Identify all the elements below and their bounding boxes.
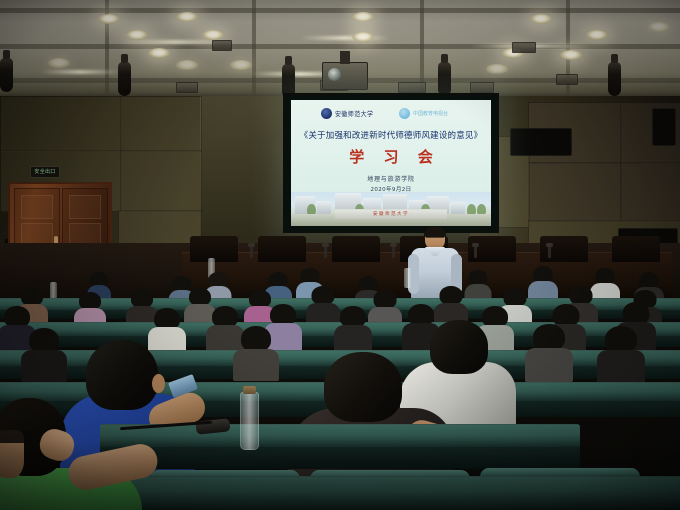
ceiling-projector (322, 62, 368, 90)
ceiling-downlight (648, 22, 670, 32)
ceiling-downlight (352, 32, 374, 42)
wall-speaker (652, 108, 676, 146)
slide-logo-row: 安徽师范大学 中国教育电视台 (291, 108, 491, 123)
table-microphone (250, 246, 253, 258)
ceiling-downlight (486, 64, 508, 74)
slide-headline: 学 习 会 (291, 146, 491, 167)
ceiling-downlight (202, 30, 224, 40)
university-logo: 安徽师范大学 (321, 108, 373, 119)
table-microphone (392, 246, 395, 258)
projector-lens (328, 68, 341, 81)
person-green-shirt (0, 402, 162, 510)
stage-spotlight (118, 62, 131, 96)
bottle-cap (243, 386, 256, 394)
ceiling-downlight (48, 58, 70, 68)
table-microphone (474, 246, 477, 258)
water-bottle-on-desk (240, 392, 259, 450)
water-bottle (404, 268, 411, 288)
stage-spotlight (0, 58, 13, 92)
glasses-icon (0, 430, 36, 443)
projection-screen: 安徽师范大学 中国教育电视台 《关于加强和改进新时代师德师风建设的意见》 学 习… (283, 93, 499, 233)
ceiling-downlight (230, 60, 252, 70)
campus-entrance-wall: 安徽师范大学 (335, 209, 447, 219)
table-microphone (324, 246, 327, 258)
exit-sign: 安全出口 (30, 166, 60, 178)
panel-chair (258, 236, 306, 262)
table-microphone (548, 246, 551, 258)
ceiling-downlight (176, 60, 198, 70)
stage-spotlight (608, 62, 621, 96)
ceiling-downlight (176, 12, 198, 22)
partner-logo-text: 中国教育电视台 (413, 110, 448, 117)
partner-org-emblem (399, 108, 410, 119)
lecture-desk-near (100, 424, 580, 449)
exit-sign-label: 安全出口 (31, 167, 59, 177)
ceiling-downlight (352, 12, 374, 22)
ceiling-downlight (126, 30, 148, 40)
panel-chair (332, 236, 380, 262)
slide-campus-photo: 安徽师范大学 (291, 192, 491, 226)
ceiling-downlight (530, 14, 552, 24)
wall-speaker (510, 128, 572, 156)
slide-organization: 地理与旅游学院 (291, 174, 491, 183)
slide-document-title: 《关于加强和改进新时代师德师风建设的意见》 (291, 129, 491, 141)
campus-photo-caption: 安徽师范大学 (335, 210, 447, 219)
panel-chair (612, 236, 660, 262)
lecture-hall-photo: 安全出口 安徽师范大学 中国教育电视台 (0, 0, 680, 510)
ceiling-downlight (586, 30, 608, 40)
university-logo-text: 安徽师范大学 (335, 109, 373, 118)
stage-spotlight (438, 62, 451, 96)
ceiling-downlight (98, 14, 120, 24)
glasses-icon (426, 237, 444, 242)
ceiling-downlight (560, 50, 582, 60)
presentation-slide: 安徽师范大学 中国教育电视台 《关于加强和改进新时代师德师风建设的意见》 学 习… (291, 100, 491, 226)
anhui-normal-university-emblem (321, 108, 332, 119)
partner-logo: 中国教育电视台 (399, 108, 448, 119)
ceiling-downlight (148, 48, 170, 58)
